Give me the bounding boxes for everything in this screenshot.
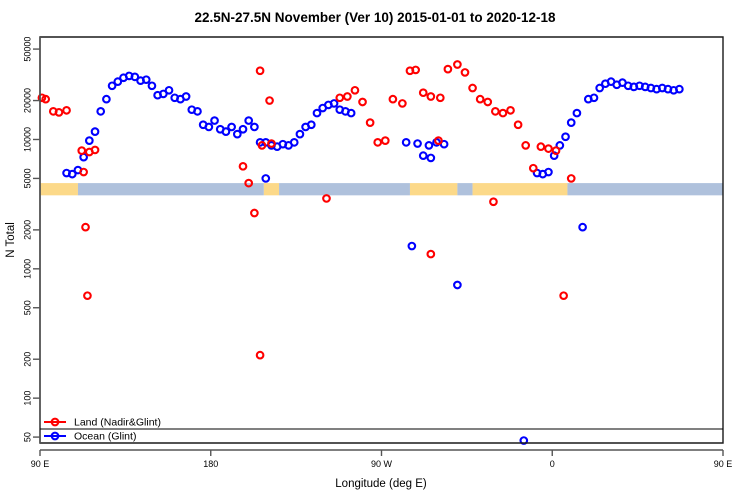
data-point xyxy=(437,95,444,102)
data-point xyxy=(382,137,389,144)
x-tick-label: 180 xyxy=(203,459,218,469)
data-point xyxy=(97,108,104,115)
data-point xyxy=(63,107,70,114)
data-point xyxy=(374,139,381,146)
data-point xyxy=(262,175,269,182)
data-point xyxy=(82,224,89,231)
data-point xyxy=(492,108,499,115)
chart-title: 22.5N-27.5N November (Ver 10) 2015-01-01… xyxy=(195,10,556,25)
data-point xyxy=(348,110,355,117)
data-point xyxy=(579,224,586,231)
x-tick-label: 90 W xyxy=(371,459,393,469)
data-point xyxy=(484,99,491,106)
y-tick-label: 50000 xyxy=(22,37,32,62)
data-point xyxy=(240,126,247,133)
data-point xyxy=(515,121,522,128)
data-point xyxy=(86,137,93,144)
data-point xyxy=(92,128,99,135)
data-point xyxy=(336,95,343,102)
data-point xyxy=(500,110,507,117)
data-point xyxy=(530,165,537,172)
data-point xyxy=(56,109,63,116)
data-point xyxy=(390,96,397,103)
data-point xyxy=(183,93,190,100)
data-point xyxy=(428,93,435,100)
scatter-plot: 22.5N-27.5N November (Ver 10) 2015-01-01… xyxy=(0,0,750,500)
data-point xyxy=(545,145,552,152)
data-point xyxy=(268,140,275,147)
data-point xyxy=(403,139,410,146)
y-tick-label: 10000 xyxy=(22,127,32,152)
surface-segment-ocean xyxy=(78,183,264,195)
surface-segment-ocean xyxy=(567,183,723,195)
data-point xyxy=(166,87,173,94)
data-point xyxy=(251,210,258,217)
data-point xyxy=(574,110,581,117)
y-tick-label: 20000 xyxy=(22,88,32,113)
ocean-data-points xyxy=(63,73,682,444)
x-tick-label: 0 xyxy=(550,459,555,469)
data-point xyxy=(323,195,330,202)
data-point xyxy=(211,117,218,124)
y-tick-label: 200 xyxy=(22,352,32,367)
data-point xyxy=(507,107,514,114)
legend-label: Ocean (Glint) xyxy=(74,431,136,443)
data-point xyxy=(331,100,338,107)
y-tick-label: 2000 xyxy=(22,220,32,240)
data-point xyxy=(359,99,366,106)
data-point xyxy=(367,119,374,126)
data-point xyxy=(352,87,359,94)
data-point xyxy=(454,61,461,68)
y-tick-label: 1000 xyxy=(22,259,32,279)
data-point xyxy=(553,147,560,154)
x-tick-label: 90 E xyxy=(31,459,50,469)
legend-label: Land (Nadir&Glint) xyxy=(74,417,161,429)
data-point xyxy=(103,96,110,103)
data-point xyxy=(399,100,406,107)
land-ocean-surface-band xyxy=(40,183,723,195)
data-point xyxy=(206,124,213,131)
data-point xyxy=(84,292,91,299)
data-point xyxy=(297,131,304,138)
data-point xyxy=(291,139,298,146)
data-point xyxy=(591,95,598,102)
data-point xyxy=(676,86,683,93)
data-point xyxy=(445,66,452,73)
y-tick-label: 50 xyxy=(22,432,32,442)
data-point xyxy=(426,142,433,149)
data-point xyxy=(414,140,421,147)
data-point xyxy=(538,143,545,150)
data-point xyxy=(490,198,497,205)
data-point xyxy=(245,117,252,124)
data-point xyxy=(266,97,273,104)
data-point xyxy=(469,85,476,92)
surface-segment-ocean xyxy=(279,183,410,195)
data-point xyxy=(420,89,427,96)
plot-frame xyxy=(40,37,723,443)
surface-segment-land xyxy=(410,183,457,195)
x-axis-title: Longitude (deg E) xyxy=(335,478,427,490)
data-point xyxy=(545,169,552,176)
data-point xyxy=(454,282,461,289)
land-data-points xyxy=(39,61,575,358)
data-point xyxy=(428,155,435,162)
data-point xyxy=(92,147,99,154)
chart-canvas: 22.5N-27.5N November (Ver 10) 2015-01-01… xyxy=(0,0,750,500)
data-point xyxy=(308,121,315,128)
data-point xyxy=(568,175,575,182)
surface-segment-land xyxy=(264,183,279,195)
chart-legend: Land (Nadir&Glint)Ocean (Glint) xyxy=(40,417,723,443)
data-point xyxy=(80,169,87,176)
surface-segment-ocean xyxy=(457,183,472,195)
data-point xyxy=(522,142,529,149)
y-tick-label: 100 xyxy=(22,391,32,406)
x-tick-label: 90 E xyxy=(714,459,733,469)
x-axis: 90 E18090 W090 E xyxy=(31,450,733,469)
data-point xyxy=(420,152,427,159)
data-point xyxy=(257,352,264,359)
y-tick-label: 5000 xyxy=(22,168,32,188)
y-axis: 50100200500100020005000100002000050000 xyxy=(22,37,40,443)
data-point xyxy=(477,96,484,103)
data-point xyxy=(149,83,156,90)
data-point xyxy=(412,67,419,74)
data-point xyxy=(228,124,235,131)
data-point xyxy=(409,243,416,250)
data-point xyxy=(562,133,569,140)
data-point xyxy=(240,163,247,170)
data-point xyxy=(568,119,575,126)
surface-segment-land xyxy=(40,183,78,195)
y-tick-label: 500 xyxy=(22,300,32,315)
data-point xyxy=(428,251,435,258)
y-axis-title: N Total xyxy=(5,222,17,258)
data-point xyxy=(143,76,150,83)
surface-segment-land xyxy=(473,183,568,195)
data-point xyxy=(251,124,258,131)
data-point xyxy=(257,67,264,74)
data-point xyxy=(462,69,469,76)
data-point xyxy=(78,147,85,154)
data-point xyxy=(560,292,567,299)
data-point xyxy=(194,108,201,115)
data-point xyxy=(344,93,351,100)
